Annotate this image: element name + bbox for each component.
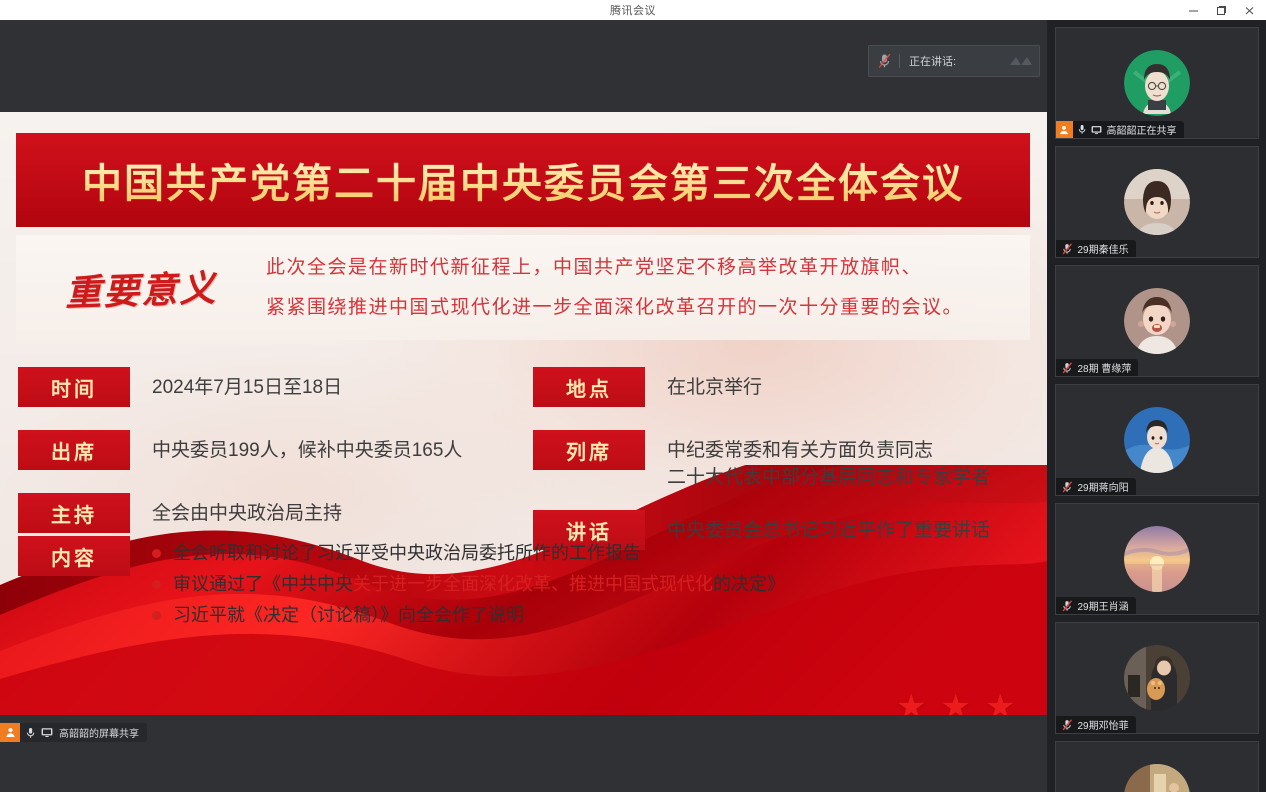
minimize-button[interactable] <box>1180 1 1206 19</box>
collapse-chevron-icon[interactable] <box>1003 46 1039 76</box>
info-value-time: 2024年7月15日至18日 <box>130 367 342 401</box>
window-title: 腾讯会议 <box>610 2 656 18</box>
info-value-attendance-line1: 中央委员199人，候补中央委员165人 <box>152 440 462 461</box>
avatar <box>1124 288 1190 354</box>
meaning-body: 此次全会是在新时代新征程上，中国共产党坚定不移高举改革开放旗帜、 紧紧围绕推进中… <box>266 248 1030 328</box>
participant-rail[interactable]: 高韶韶正在共享 <box>1047 20 1266 792</box>
avatar <box>1124 526 1190 592</box>
meaning-heading: 重要意义 <box>15 257 267 318</box>
microphone-muted-icon <box>869 53 899 69</box>
info-row-location: 地点 在北京举行 <box>523 367 1046 411</box>
avatar <box>1124 407 1190 473</box>
info-tag-content: 内容 <box>18 536 130 576</box>
info-value-location-line1: 在北京举行 <box>667 377 762 398</box>
share-status-bar: 高韶韶的屏幕共享 <box>0 715 1047 792</box>
microphone-muted-icon <box>1062 719 1073 731</box>
info-tag-observers: 列席 <box>533 430 645 470</box>
avatar <box>1124 169 1190 235</box>
bullet-text-2: 审议通过了《中共中央关于进一步全面深化改革、推进中国式现代化的决定》 <box>173 569 785 600</box>
info-row-time: 时间 2024年7月15日至18日 <box>0 367 523 411</box>
info-row-chair: 主持 全会由中央政治局主持 <box>0 493 523 537</box>
microphone-muted-icon <box>1062 362 1073 374</box>
avatar <box>1124 50 1190 116</box>
info-value-observers-line1: 中纪委常委和有关方面负责同志 <box>667 440 933 461</box>
info-tag-location: 地点 <box>533 367 645 407</box>
microphone-muted-icon <box>1062 243 1073 255</box>
microphone-icon <box>26 727 35 739</box>
info-value-chair-line1: 全会由中央政治局主持 <box>152 503 342 524</box>
participant-tile[interactable] <box>1055 741 1259 792</box>
shared-screen-slide[interactable]: 中国共产党第二十届中央委员会第三次全体会议 重要意义 此次全会是在新时代新征程上… <box>0 112 1047 715</box>
speaking-label: 正在讲话: <box>900 53 1003 69</box>
participant-badge: 29期王肖涵 <box>1056 597 1136 614</box>
avatar <box>1124 645 1190 711</box>
list-item: 全会听取和讨论了习近平受中央政治局委托所作的工作报告 <box>152 538 785 569</box>
info-value-observers: 中纪委常委和有关方面负责同志 二十大代表中部分基层同志和专家学者 <box>645 430 990 491</box>
screen-share-icon <box>41 727 53 738</box>
bullet-dot-icon <box>152 611 161 620</box>
meeting-stage: 正在讲话: <box>0 20 1047 792</box>
star-icon: ★ <box>985 690 1015 715</box>
participant-tile[interactable]: 29期蒋向阳 <box>1055 384 1259 496</box>
info-tag-chair: 主持 <box>18 493 130 533</box>
avatar <box>1124 764 1190 792</box>
microphone-muted-icon <box>1062 600 1073 612</box>
participant-tile[interactable]: 29期邓怡菲 <box>1055 622 1259 734</box>
participant-tile[interactable]: 29期王肖涵 <box>1055 503 1259 615</box>
meaning-band: 重要意义 此次全会是在新时代新征程上，中国共产党坚定不移高举改革开放旗帜、 紧紧… <box>16 235 1030 340</box>
share-status-pill: 高韶韶的屏幕共享 <box>0 723 147 742</box>
bullet-dot-icon <box>152 549 161 558</box>
bullet-text-3: 习近平就《决定（讨论稿）》向全会作了说明 <box>173 600 524 631</box>
participant-badge: 29期秦佳乐 <box>1056 240 1136 257</box>
meaning-line-2: 紧紧围绕推进中国式现代化进一步全面深化改革召开的一次十分重要的会议。 <box>266 288 1012 328</box>
list-item: 习近平就《决定（讨论稿）》向全会作了说明 <box>152 600 785 631</box>
close-button[interactable] <box>1236 1 1262 19</box>
window-controls <box>1180 0 1262 20</box>
participant-badge: 29期蒋向阳 <box>1056 478 1136 495</box>
list-item: 审议通过了《中共中央关于进一步全面深化改革、推进中国式现代化的决定》 <box>152 569 785 600</box>
participant-tile[interactable]: 29期秦佳乐 <box>1055 146 1259 258</box>
bullet-dot-icon <box>152 580 161 589</box>
participant-badge: 29期邓怡菲 <box>1056 716 1136 733</box>
bullet-text-1: 全会听取和讨论了习近平受中央政治局委托所作的工作报告 <box>173 538 641 569</box>
star-icon: ★ <box>896 690 926 715</box>
star-decoration: ★ ★ ★ <box>896 690 1015 715</box>
info-value-time-line1: 2024年7月15日至18日 <box>152 377 342 398</box>
host-person-icon <box>1056 121 1073 138</box>
bullet-text-2-post: 的决定》 <box>713 574 785 594</box>
info-value-attendance: 中央委员199人，候补中央委员165人 <box>130 430 462 464</box>
info-tag-time: 时间 <box>18 367 130 407</box>
star-icon: ★ <box>940 690 970 715</box>
share-status-label: 高韶韶的屏幕共享 <box>59 725 139 740</box>
tencent-meeting-window: 腾讯会议 <box>0 0 1266 792</box>
participant-badge: 28期 曹缘萍 <box>1056 359 1139 376</box>
participant-name: 29期秦佳乐 <box>1078 241 1129 256</box>
info-value-chair: 全会由中央政治局主持 <box>130 493 342 527</box>
participant-badge: 高韶韶正在共享 <box>1056 121 1184 138</box>
info-value-observers-line2: 二十大代表中部分基层同志和专家学者 <box>667 464 990 491</box>
participant-tile[interactable]: 高韶韶正在共享 <box>1055 27 1259 139</box>
participant-tile[interactable]: 28期 曹缘萍 <box>1055 265 1259 377</box>
participant-name: 28期 曹缘萍 <box>1078 360 1132 375</box>
info-tag-attendance: 出席 <box>18 430 130 470</box>
participant-name: 高韶韶正在共享 <box>1107 122 1177 137</box>
microphone-muted-icon <box>1062 481 1073 493</box>
host-person-icon <box>0 723 20 742</box>
window-titlebar: 腾讯会议 <box>0 0 1266 20</box>
speaking-indicator[interactable]: 正在讲话: <box>868 45 1040 77</box>
info-row-observers: 列席 中纪委常委和有关方面负责同志 二十大代表中部分基层同志和专家学者 <box>523 430 1046 491</box>
slide-title-banner: 中国共产党第二十届中央委员会第三次全体会议 <box>16 133 1030 227</box>
meaning-line-1: 此次全会是在新时代新征程上，中国共产党坚定不移高举改革开放旗帜、 <box>266 248 1012 288</box>
slide-title: 中国共产党第二十届中央委员会第三次全体会议 <box>82 151 964 209</box>
participant-name: 29期邓怡菲 <box>1078 717 1129 732</box>
info-value-location: 在北京举行 <box>645 367 762 401</box>
participant-name: 29期王肖涵 <box>1078 598 1129 613</box>
maximize-button[interactable] <box>1208 1 1234 19</box>
bullet-text-2-pre: 审议通过了《中共中央 <box>173 574 353 594</box>
slide-content-block: 内容 全会听取和讨论了习近平受中央政治局委托所作的工作报告 审议通过了《中共中央… <box>0 536 1047 631</box>
participant-name: 29期蒋向阳 <box>1078 479 1129 494</box>
microphone-icon <box>1078 124 1086 135</box>
content-bullet-list: 全会听取和讨论了习近平受中央政治局委托所作的工作报告 审议通过了《中共中央关于进… <box>130 536 785 631</box>
info-row-attendance: 出席 中央委员199人，候补中央委员165人 <box>0 430 523 474</box>
screen-share-icon <box>1091 125 1102 135</box>
bullet-text-2-highlight: 关于进一步全面深化改革、推进中国式现代化 <box>353 574 713 594</box>
